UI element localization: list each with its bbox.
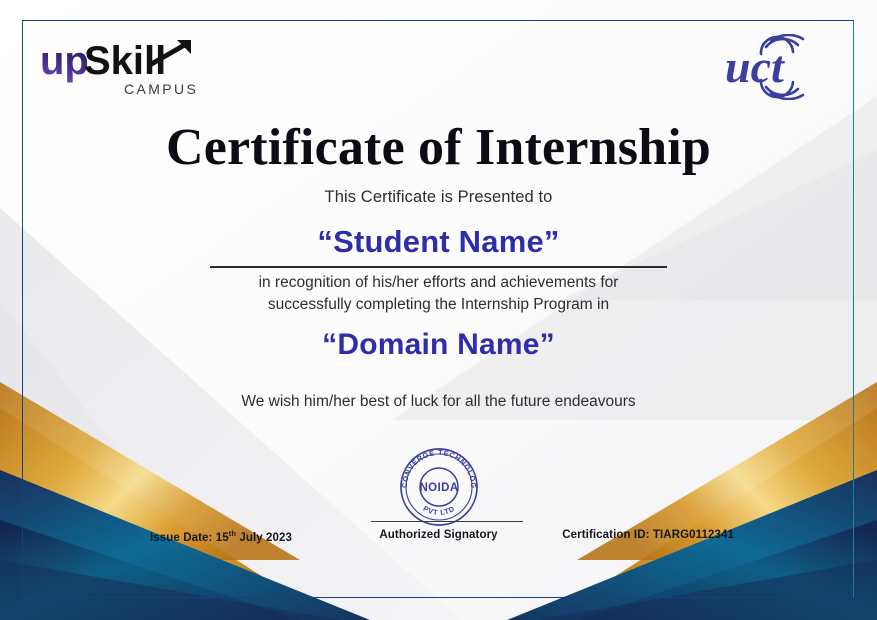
issue-date: Issue Date: 15th July 2023	[150, 529, 292, 544]
signature-rule	[371, 521, 523, 522]
domain-name: “Domain Name”	[0, 328, 877, 362]
issue-date-label: Issue Date:	[150, 532, 212, 544]
upskill-tagline: CAMPUS	[124, 81, 198, 97]
issue-date-day: 15	[216, 532, 229, 544]
recognition-text: in recognition of his/her efforts and ac…	[0, 272, 877, 316]
certification-id: Certification ID: TIARG0112341	[562, 529, 734, 541]
recipient-name: “Student Name”	[0, 224, 877, 260]
upskill-word-up: up	[40, 39, 89, 83]
recipient-name-rule	[210, 266, 667, 268]
authorized-signatory-label: Authorized Signatory	[0, 529, 877, 541]
company-seal: UNICONVERGE TECHNOLOGIES PVT LTD NOIDA	[397, 445, 481, 529]
presented-to-label: This Certificate is Presented to	[0, 188, 877, 207]
recognition-line-2: successfully completing the Internship P…	[0, 294, 877, 316]
issue-date-rest: July 2023	[236, 532, 292, 544]
upskill-logo-svg: up Skill CAMPUS	[40, 36, 205, 102]
uct-logo: uct	[723, 34, 835, 100]
issue-date-ordinal: th	[229, 529, 236, 538]
certification-id-label: Certification ID:	[562, 529, 649, 541]
closing-text: We wish him/her best of luck for all the…	[0, 393, 877, 411]
company-seal-svg: UNICONVERGE TECHNOLOGIES PVT LTD NOIDA	[397, 445, 481, 529]
recognition-line-1: in recognition of his/her efforts and ac…	[0, 272, 877, 294]
uct-wordmark: uct	[725, 41, 785, 92]
seal-center-text: NOIDA	[419, 482, 458, 494]
certificate-canvas: up Skill CAMPUS uct Certificate of Inter…	[0, 0, 877, 620]
certification-id-value: TIARG0112341	[653, 529, 734, 541]
uct-logo-svg: uct	[723, 34, 835, 100]
certificate-title: Certificate of Internship	[0, 122, 877, 174]
upskill-campus-logo: up Skill CAMPUS	[40, 36, 205, 102]
